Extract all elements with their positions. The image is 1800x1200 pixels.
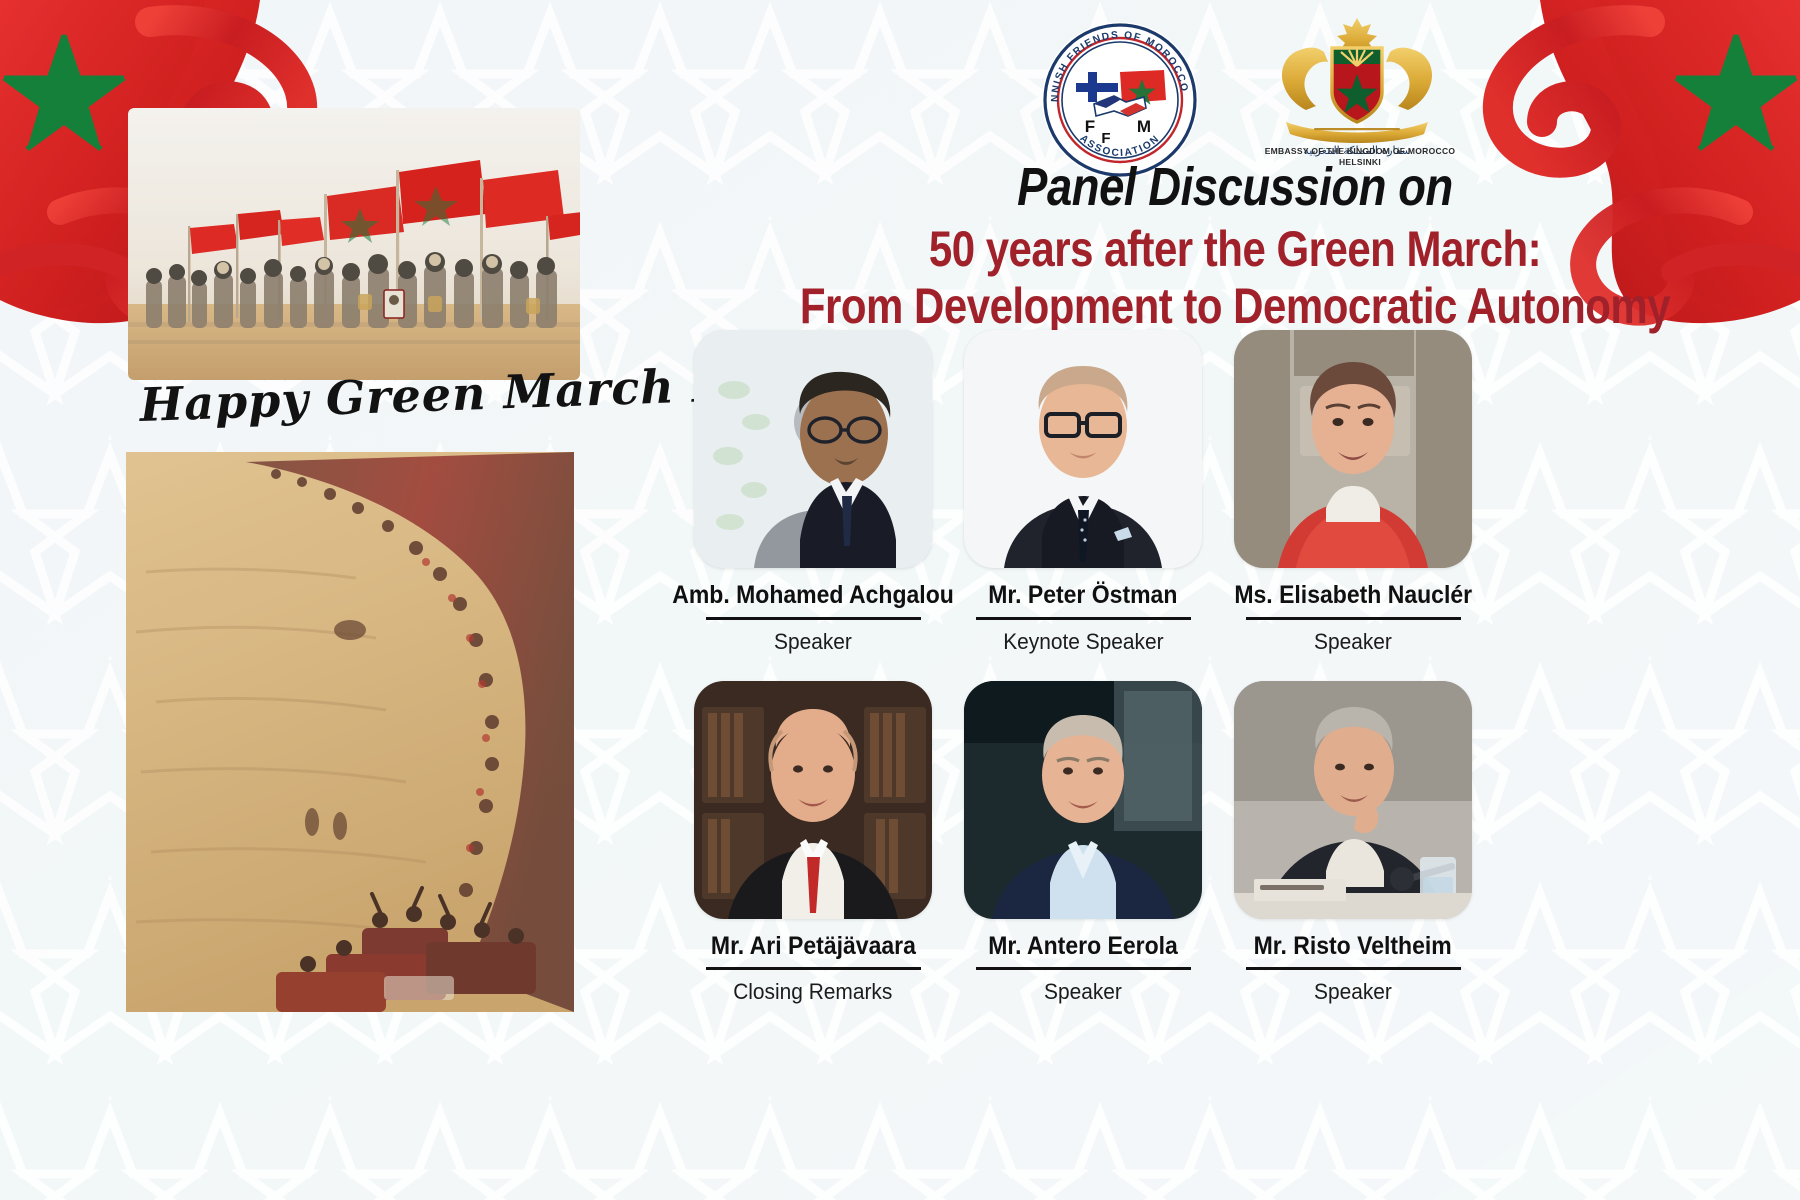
- speaker-name: Amb. Mohamed Achgalou: [672, 582, 954, 610]
- speaker-card: Mr. Ari Petäjävaara Closing Remarks: [682, 681, 944, 1006]
- title-block: Panel Discussion on 50 years after the G…: [700, 160, 1770, 335]
- svg-text:F: F: [1101, 130, 1110, 147]
- speaker-card: Mr. Risto Veltheim Speaker: [1222, 681, 1484, 1006]
- speakers-row-2: Mr. Ari Petäjävaara Closing Remarks: [660, 681, 1780, 1006]
- speaker-photo: [1234, 330, 1472, 568]
- green-march-desert-photo: [126, 452, 574, 1012]
- speaker-name: Mr. Antero Eerola: [988, 933, 1178, 961]
- svg-text:F: F: [1085, 117, 1095, 136]
- event-poster: Happy Green March Day: [0, 0, 1800, 1200]
- green-march-crowd-photo: [128, 108, 580, 380]
- speaker-role: Speaker: [1314, 629, 1392, 655]
- title-line-panel-discussion: Panel Discussion on: [786, 160, 1685, 215]
- speaker-rule: [976, 617, 1191, 620]
- speaker-name: Ms. Elisabeth Nauclér: [1234, 582, 1472, 610]
- ffm-association-logo: FINNISH FRIENDS OF MOROCCO RY ASSOCIATIO…: [1040, 20, 1200, 180]
- speaker-photo: [964, 330, 1202, 568]
- speaker-card: Ms. Elisabeth Nauclér Speaker: [1222, 330, 1484, 655]
- speaker-role: Keynote Speaker: [1003, 629, 1163, 655]
- speaker-rule: [976, 967, 1191, 970]
- speakers-row-1: Amb. Mohamed Achgalou Speaker: [660, 330, 1780, 655]
- speaker-rule: [1246, 967, 1461, 970]
- speaker-role: Speaker: [774, 629, 852, 655]
- speaker-card: Amb. Mohamed Achgalou Speaker: [682, 330, 944, 655]
- title-line-from-development: From Development to Democratic Autonomy: [786, 278, 1685, 335]
- left-imagery-column: Happy Green March Day: [0, 0, 640, 1200]
- speaker-role: Speaker: [1044, 979, 1122, 1005]
- speaker-card: Mr. Peter Östman Keynote Speaker: [952, 330, 1214, 655]
- speaker-photo: [694, 330, 932, 568]
- speaker-role: Speaker: [1314, 979, 1392, 1005]
- speaker-rule: [706, 967, 921, 970]
- happy-green-march-day-text: Happy Green March Day: [139, 363, 581, 448]
- speaker-name: Mr. Peter Östman: [988, 582, 1177, 610]
- speaker-role: Closing Remarks: [733, 979, 892, 1005]
- speaker-photo: [1234, 681, 1472, 919]
- speaker-photo: [964, 681, 1202, 919]
- speaker-name: Mr. Risto Veltheim: [1254, 933, 1452, 961]
- speaker-rule: [706, 617, 921, 620]
- morocco-embassy-coat-of-arms: سفارة المملكة المغربية: [1262, 14, 1452, 164]
- speaker-name: Mr. Ari Petäjävaara: [710, 933, 915, 961]
- speaker-rule: [1246, 617, 1461, 620]
- title-line-50-years: 50 years after the Green March:: [786, 221, 1685, 278]
- speaker-photo: [694, 681, 932, 919]
- speakers-grid: Amb. Mohamed Achgalou Speaker: [660, 330, 1780, 1005]
- svg-text:M: M: [1137, 117, 1151, 136]
- embassy-caption-line1: EMBASSY OF THE KINGDOM OF MOROCCO: [1245, 146, 1475, 157]
- speaker-card: Mr. Antero Eerola Speaker: [952, 681, 1214, 1006]
